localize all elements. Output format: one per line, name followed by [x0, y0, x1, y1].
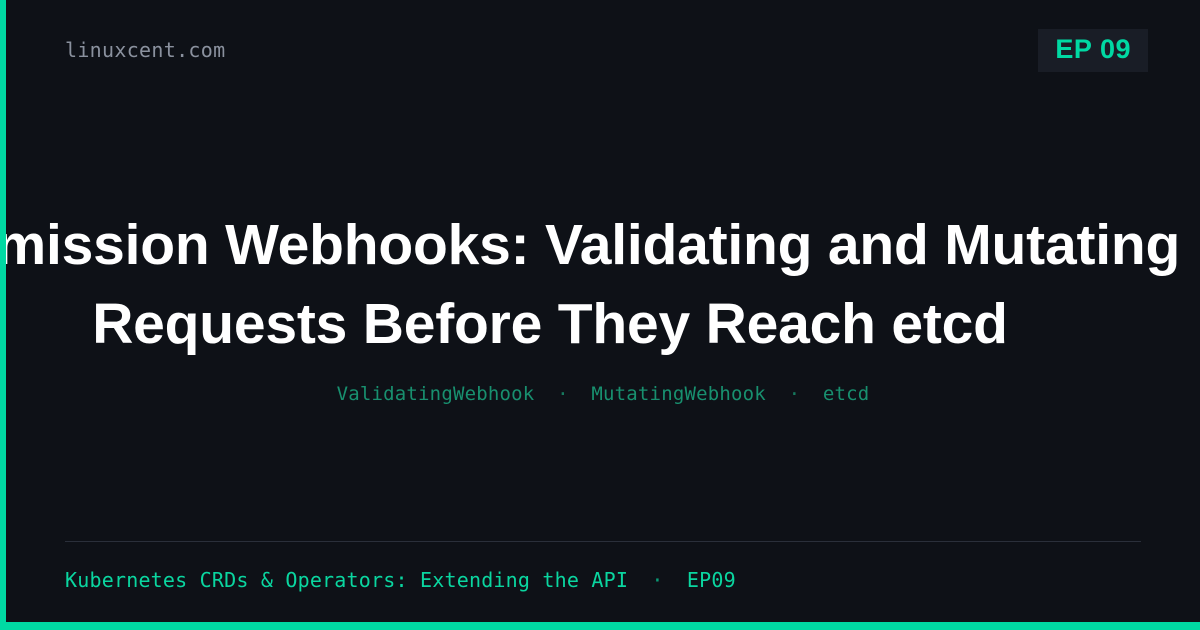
tag-list: ValidatingWebhook · MutatingWebhook · et… [337, 383, 870, 405]
episode-badge: EP 09 [1038, 29, 1148, 72]
footer-divider [65, 541, 1141, 542]
tag-separator: · [546, 383, 580, 405]
tag-item: etcd [823, 383, 870, 405]
footer-text: Kubernetes CRDs & Operators: Extending t… [65, 568, 1141, 592]
footer-episode: EP09 [687, 568, 736, 592]
tag-separator: · [778, 383, 812, 405]
footer-separator: · [640, 568, 674, 592]
site-name: linuxcent.com [65, 38, 225, 62]
tag-item: MutatingWebhook [591, 383, 766, 405]
series-name: Kubernetes CRDs & Operators: Extending t… [65, 568, 628, 592]
social-card: linuxcent.com EP 09 Admission Webhooks: … [0, 0, 1200, 630]
card-header: linuxcent.com EP 09 [6, 0, 1200, 100]
card-footer: Kubernetes CRDs & Operators: Extending t… [6, 541, 1200, 592]
tag-item: ValidatingWebhook [337, 383, 535, 405]
card-main: Admission Webhooks: Validating and Mutat… [6, 100, 1200, 541]
page-title: Admission Webhooks: Validating and Mutat… [0, 206, 1200, 363]
